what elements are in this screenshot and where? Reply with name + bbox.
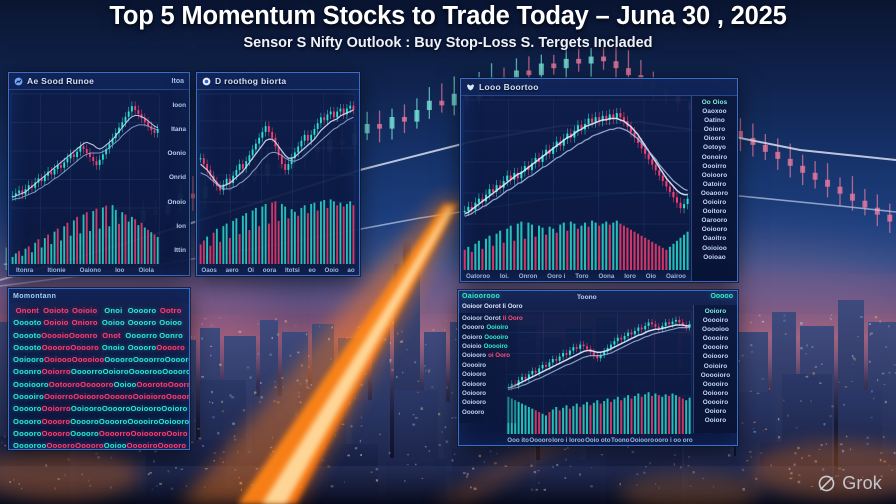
- panel-3-x-axis: OatorooIoi.OnronOoro iToroOonaIoroOioOai…: [461, 270, 691, 282]
- table-cell: Ooioo: [156, 317, 185, 329]
- table-cell: Ooiooro: [71, 403, 102, 415]
- ladder-price-cell[interactable]: Ooioro: [705, 416, 727, 425]
- table-cell: Ooooto: [13, 330, 41, 342]
- table-cell: Ooioo: [104, 440, 127, 450]
- axis-tick-label: Oona: [598, 273, 614, 280]
- panel-3-price-ladder[interactable]: Oo OiosOaoxooOatinoOoioroOiooroOotoyoOon…: [691, 96, 737, 282]
- ladder-price-cell[interactable]: Ooiooro: [702, 171, 728, 180]
- table-row[interactable]: OnontOoiotoOoioioOnoiOoooroOotro: [13, 305, 185, 317]
- axis-tick-label: eo: [309, 267, 316, 274]
- table-cell: Ooooro: [158, 440, 187, 450]
- ladder-price-cell[interactable]: Ooooiro: [703, 398, 729, 407]
- table-cell: Ooioto: [42, 305, 71, 317]
- ladder-price-cell[interactable]: Oatino: [704, 116, 725, 125]
- table-cell: Onot: [98, 330, 126, 342]
- ladder-price-cell[interactable]: Ooioro: [704, 125, 726, 134]
- quote-symbol: Ooooro: [462, 324, 484, 332]
- table-cell: Ooooroo: [129, 366, 162, 378]
- axis-tick-label: Itonra: [16, 267, 33, 274]
- quote-symbol: Ooiooro: [462, 371, 486, 379]
- table-cell: Ooioro: [161, 403, 187, 415]
- axis-tick-label: ao: [347, 267, 354, 274]
- grok-label: Grok: [842, 473, 882, 494]
- table-cell: Ooooro: [162, 366, 190, 378]
- quote-row[interactable]: Ooiooro: [462, 399, 514, 407]
- quote-value: Ooooiro: [484, 343, 508, 351]
- axis-tick-label: ooro i oo oro: [655, 437, 693, 444]
- quote-row[interactable]: Ooiooro: [462, 371, 514, 379]
- panel-1-header-right: Itoa: [172, 78, 184, 85]
- axis-tick-label: Oairoo: [666, 273, 686, 280]
- ladder-price-cell[interactable]: Ooaooro: [701, 189, 728, 198]
- table-cell: Ooioo: [99, 317, 128, 329]
- table-cell: Oooorro: [99, 428, 131, 440]
- ladder-price-cell[interactable]: Ooooiro: [703, 316, 729, 325]
- page-title: Top 5 Momentum Stocks to Trade Today – J…: [0, 2, 896, 31]
- momentum-data-table-panel[interactable]: Momontann OnontOoiotoOoioioOnoiOoooroOot…: [8, 288, 190, 450]
- table-cell: Ooiro: [166, 428, 187, 440]
- table-cell: Ooooiro: [128, 416, 159, 428]
- axis-tick-label: Ooio: [325, 267, 339, 274]
- table-cell: Ooiorro: [44, 391, 73, 403]
- axis-tick-label: Oaiono: [80, 267, 101, 274]
- axis-tick-label: Oaos: [201, 267, 216, 274]
- panel-3-header: Looo Boortoo: [461, 79, 737, 96]
- table-cell: Ootooro: [49, 379, 80, 391]
- table-cell: Ooooto: [13, 317, 42, 329]
- table-cell: Ooioioro: [133, 391, 166, 403]
- axis-tick-label: Toro: [575, 273, 588, 280]
- ladder-price-cell[interactable]: Oiooro: [704, 134, 726, 143]
- quote-row[interactable]: Ooiooro: [462, 381, 514, 389]
- table-row[interactable]: OoonroOoiorroOooorroOoioroOooorooOoooro: [13, 366, 185, 378]
- table-cell: Ooiooro: [158, 416, 189, 428]
- axis-tick-label: Ooo ito: [507, 437, 529, 444]
- axis-tick-label: Ioi.: [500, 273, 509, 280]
- table-cell: Ooooro: [13, 428, 42, 440]
- axis-tick-label: Ion: [176, 223, 186, 230]
- quote-symbol: Ooioro: [462, 334, 482, 342]
- axis-tick-label: Oi: [247, 267, 254, 274]
- table-cell: Ooonro: [13, 366, 42, 378]
- panel-3-title: Looo Boortoo: [479, 82, 539, 92]
- chart-logo-icon: [14, 77, 23, 86]
- page-subtitle: Sensor S Nifty Outlook : Buy Stop-Loss S…: [0, 35, 896, 51]
- table-cell: Ooooro: [70, 342, 99, 354]
- bull-logo-icon: [466, 83, 475, 92]
- quote-value: oi Ooro: [488, 352, 510, 360]
- quote-value: Ooooiro: [484, 334, 508, 342]
- table-cell: Ooioio: [42, 317, 71, 329]
- quote-symbol: Ooioio: [462, 343, 482, 351]
- panel-4-badge: Ooooo: [710, 293, 733, 300]
- grok-watermark: Grok: [817, 473, 882, 494]
- ladder-price-cell[interactable]: Ooioao: [703, 253, 726, 262]
- table-cell: Ooioooro: [131, 428, 167, 440]
- table-cell: Ooonro: [69, 330, 98, 342]
- axis-tick-label: Ioro i Ioroo: [552, 437, 584, 444]
- table-cell: Oooorro: [71, 366, 103, 378]
- axis-tick-label: Onrid: [169, 174, 186, 181]
- poster-canvas: Top 5 Momentum Stocks to Trade Today – J…: [0, 0, 896, 504]
- ladder-price-cell[interactable]: Oatoiro: [703, 180, 726, 189]
- ladder-price-cell[interactable]: Ooiooro: [702, 225, 728, 234]
- ladder-price-cell[interactable]: Ooioioo: [702, 244, 727, 253]
- ladder-price-cell[interactable]: Ooooiro: [703, 343, 729, 352]
- panel-4-title: Oaioorooo: [462, 293, 500, 300]
- table-cell: Onoio: [99, 342, 128, 354]
- table-cell: Ooorro: [168, 379, 190, 391]
- table-row[interactable]: OoooiroOoiorroOoiooroOoooroOoioioroOooor…: [13, 391, 185, 403]
- quote-row[interactable]: Ooiooro: [462, 390, 514, 398]
- table-row[interactable]: OoooroOoooroOoooroOoooroOoooiroOoiooro: [13, 416, 185, 428]
- axis-tick-label: Ioo: [115, 267, 124, 274]
- quote-value: Ooioiro: [486, 324, 508, 332]
- axis-tick-label: Itotsi: [285, 267, 300, 274]
- table-cell: Oooorro: [166, 391, 190, 403]
- table-cell: Onioro: [70, 317, 99, 329]
- panel-2-x-axis: OaosaeroOiooraItotsieoOoioao: [197, 264, 359, 276]
- quote-row[interactable]: Ooooro: [462, 409, 514, 417]
- table-row[interactable]: OoooroOoooroOoooroOooorroOoioooroOoiro: [13, 428, 185, 440]
- panel-2-chart: [197, 90, 359, 276]
- table-cell: Ooooro: [13, 403, 42, 415]
- table-cell: Ooooro: [104, 391, 133, 403]
- axis-tick-label: Ooro i: [547, 273, 565, 280]
- ladder-price-cell[interactable]: Ooiooro: [703, 389, 729, 398]
- panel-1-title: Ae Sood Runoe: [27, 76, 94, 86]
- panel-4-subtitle: Ooioor Oorot Ii Ooro: [462, 303, 523, 310]
- quote-row[interactable]: OoioioOoooiro: [462, 343, 514, 351]
- panel-4-quote-list[interactable]: Ooioor OorotIi OoroOoooroOoioiroOoioroOo…: [459, 313, 517, 423]
- table-cell: Ooooro: [13, 416, 42, 428]
- table-cell: Ooooro: [42, 416, 71, 428]
- axis-tick-label: Ioro: [624, 273, 636, 280]
- quote-value: Ii Ooro: [503, 315, 523, 323]
- table-cell: Oooorro: [133, 354, 165, 366]
- table-cell: Ooooro: [42, 342, 71, 354]
- table-cell: Ooooro: [128, 342, 157, 354]
- axis-tick-label: Itionie: [47, 267, 65, 274]
- panel-2-body: OaosaeroOiooraItotsieoOoioao: [197, 90, 359, 276]
- quote-symbol: Ooooiro: [462, 362, 486, 370]
- ladder-price-cell[interactable]: Ooooiro: [703, 380, 729, 389]
- ladder-price-cell[interactable]: Oo Oios: [702, 98, 728, 107]
- table-row[interactable]: OoootoOoooioOoonroOnotOooorroOonro: [13, 330, 185, 342]
- candlestick-panel-2[interactable]: D roothog biorta OaosaeroOiooraItotsieoO…: [196, 72, 360, 276]
- table-row[interactable]: OoootoOoioioOnioroOoiooOoooroOoioo: [13, 317, 185, 329]
- panel-2-title: D roothog biorta: [215, 76, 286, 86]
- table-cell: Onont: [13, 305, 42, 317]
- axis-tick-label: Itana: [171, 126, 186, 133]
- axis-tick-label: Oatoroo: [466, 273, 490, 280]
- ladder-price-cell[interactable]: Ooitoro: [703, 207, 727, 216]
- quote-symbol: Ooioor Oorot: [462, 315, 501, 323]
- panel-1-x-axis: ItonraItionieOaionoIooOiola: [9, 264, 161, 276]
- panel-4-body: Oaioorooo Ooioor Oorot Ii Ooro Toono Ooo…: [459, 291, 737, 446]
- panel-2-header: D roothog biorta: [197, 73, 359, 90]
- panel-1-header: Ae Sood Runoe Itoa: [9, 73, 189, 90]
- table-row[interactable]: OoooroOoiorroOoiooroOoooroOoiooroOoioro: [13, 403, 185, 415]
- table-cell: Ooooro: [99, 416, 128, 428]
- ladder-price-cell[interactable]: Oarooro: [702, 216, 728, 225]
- axis-tick-label: Ooiooro: [630, 437, 654, 444]
- table-cell: Ooooro: [75, 440, 104, 450]
- table-cell: Ooioo: [114, 379, 137, 391]
- table-row[interactable]: OooorooOoooroOoooroOoiooOoooiroOoooro: [13, 440, 185, 450]
- panel-1-body: IoonItanaOonioOnridOnoioIonIttin ItonraI…: [9, 90, 189, 276]
- circle-badge-icon: [202, 77, 211, 86]
- candlestick-panel-4[interactable]: Oaioorooo Ooioor Oorot Ii Ooro Toono Ooo…: [458, 290, 738, 446]
- table-cell: Ooooiro: [13, 391, 44, 403]
- axis-tick-label: Onron: [519, 273, 538, 280]
- ladder-price-cell[interactable]: Ooooiro: [703, 334, 729, 343]
- axis-tick-label: Oiola: [138, 267, 153, 274]
- table-cell: Oooroto: [137, 379, 168, 391]
- ladder-price-cell[interactable]: Ooioro: [705, 307, 727, 316]
- table-cell: Ooiooro: [13, 354, 44, 366]
- table-cell: Ooooro: [102, 403, 131, 415]
- ladder-price-cell[interactable]: Ootoyo: [703, 143, 726, 152]
- ladder-price-cell[interactable]: Oooirro: [702, 162, 726, 171]
- table-cell: Ooooro: [165, 354, 190, 366]
- table-cell: Ooooro: [104, 354, 133, 366]
- ladder-price-cell[interactable]: Ooioiro: [703, 198, 726, 207]
- axis-tick-label: aero: [226, 267, 239, 274]
- table-cell: Ooiooro: [130, 403, 161, 415]
- quote-row[interactable]: Ooooiro: [462, 362, 514, 370]
- ladder-price-cell[interactable]: Ooooioro: [701, 371, 731, 380]
- table-cell: Ooooiro: [127, 440, 158, 450]
- candlestick-panel-1[interactable]: Ae Sood Runoe Itoa IoonItanaOonioOnridOn…: [8, 72, 190, 276]
- table-cell: Ooiorro: [42, 403, 71, 415]
- quote-row[interactable]: OoooroOoioiro: [462, 324, 514, 332]
- axis-tick-label: Ooooro: [529, 437, 551, 444]
- quote-row[interactable]: Ooioor OorotIi Ooro: [462, 315, 514, 323]
- ladder-price-cell[interactable]: Ooooioo: [702, 325, 729, 334]
- axis-tick-label: Toono: [611, 437, 629, 444]
- table-row[interactable]: OoiooroOoioooOoooiooOoooroOooorroOoooro: [13, 354, 185, 366]
- table-cell: Ooooro: [42, 428, 71, 440]
- ladder-price-cell[interactable]: Oaoitro: [703, 234, 726, 243]
- ladder-price-cell[interactable]: Oonoiro: [702, 153, 728, 162]
- table-cell: Ooooro: [128, 305, 157, 317]
- axis-tick-label: oora: [263, 267, 276, 274]
- quote-symbol: Ooiooro: [462, 390, 486, 398]
- quote-symbol: Ooiooro: [462, 381, 486, 389]
- grok-logo-icon: [817, 474, 836, 493]
- table-cell: Ootro: [156, 305, 185, 317]
- table-cell: Oooiooro: [13, 379, 49, 391]
- quote-symbol: Ooiooro: [462, 352, 486, 360]
- table-cell: Ooiorro: [42, 366, 71, 378]
- axis-tick-label: Oonio: [168, 150, 186, 157]
- table-cell: Ooooroo: [13, 440, 46, 450]
- ladder-price-cell[interactable]: Ooioro: [705, 407, 727, 416]
- candlestick-panel-3[interactable]: Looo Boortoo Oo OiosOaoxooOatinoOoioroOi…: [460, 78, 738, 282]
- table-cell: Onoi: [99, 305, 128, 317]
- panel-4-x-axis: Ooo itoOoooroIoro i IorooOoio otoToonoOo…: [507, 434, 693, 446]
- axis-tick-label: Ioon: [173, 102, 187, 109]
- table-cell: Ooooro: [156, 342, 185, 354]
- momentum-data-table[interactable]: OnontOoiotoOoioioOnoiOoooroOotroOoootoOo…: [9, 303, 189, 450]
- ladder-price-cell[interactable]: Oaoxoo: [702, 107, 726, 116]
- table-cell: Ooooro: [128, 317, 157, 329]
- axis-tick-label: Onoio: [168, 199, 186, 206]
- table-row[interactable]: OooiooroOotooroOooooroOoiooOoorotoOoorro: [13, 379, 185, 391]
- ladder-price-cell[interactable]: Ooioiro: [704, 362, 727, 371]
- panel-4-price-ladder[interactable]: OoioroOoooiroOoooiooOoooiroOoooiroOoioor…: [693, 305, 737, 433]
- quote-symbol: Ooooro: [462, 409, 484, 417]
- table-cell: Ooooro: [70, 428, 99, 440]
- quote-symbol: Ooiooro: [462, 399, 486, 407]
- table-cell: Ooiooo: [44, 354, 72, 366]
- table-cell: Ooooioo: [72, 354, 105, 366]
- title-block: Top 5 Momentum Stocks to Trade Today – J…: [0, 2, 896, 51]
- quote-row[interactable]: OoioroOoooiro: [462, 334, 514, 342]
- panel-1-y-axis: IoonItanaOonioOnridOnoioIonIttin: [162, 90, 188, 276]
- table-cell: Oooorro: [125, 330, 157, 342]
- panel-4-mid-label: Toono: [577, 294, 597, 301]
- ladder-price-cell[interactable]: Ooiooro: [703, 352, 729, 361]
- table-title: Momontann: [9, 289, 189, 303]
- table-cell: Ooioio: [70, 305, 99, 317]
- table-cell: Ooioro: [103, 366, 129, 378]
- table-cell: Ooooro: [70, 416, 99, 428]
- table-cell: Ooooio: [41, 330, 69, 342]
- panel-3-body: Oo OiosOaoxooOatinoOoioroOiooroOotoyoOon…: [461, 96, 737, 282]
- axis-tick-label: Ittin: [174, 247, 186, 254]
- table-cell: Ooooro: [46, 440, 75, 450]
- quote-row[interactable]: Ooioorooi Ooro: [462, 352, 514, 360]
- table-cell: Ooooto: [13, 342, 42, 354]
- table-row[interactable]: OoootoOoooroOoooroOnoioOoooroOoooro: [13, 342, 185, 354]
- axis-tick-label: Oio: [646, 273, 656, 280]
- table-cell: Oooooro: [80, 379, 113, 391]
- table-cell: Ooiooro: [73, 391, 104, 403]
- axis-tick-label: Ooio oto: [585, 437, 610, 444]
- table-cell: Oonro: [157, 330, 185, 342]
